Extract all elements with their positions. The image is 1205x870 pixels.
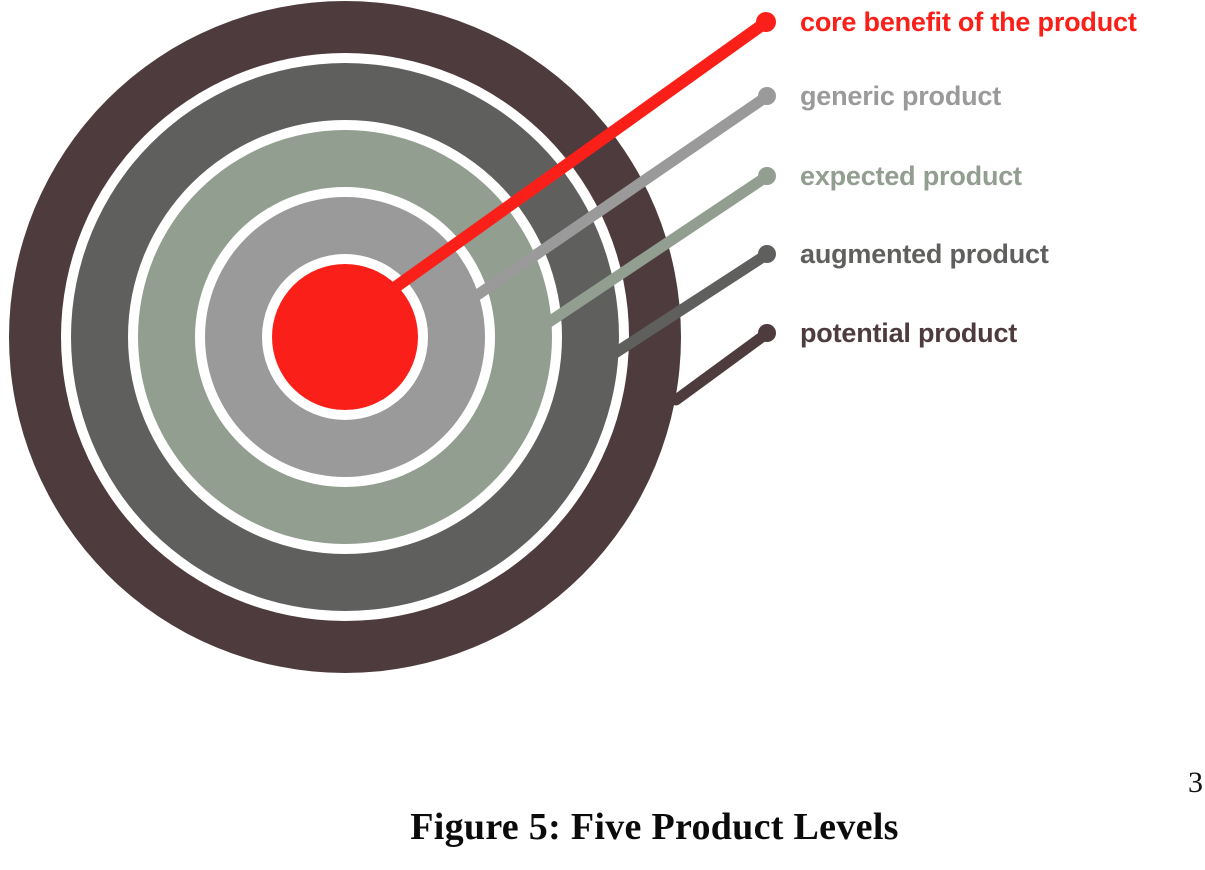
target-rings <box>9 1 681 673</box>
leader-dot-expected-product <box>758 167 776 185</box>
label-generic-product[interactable]: generic product <box>800 81 1001 111</box>
five-product-levels-diagram: core benefit of the product generic prod… <box>0 0 1205 870</box>
level-labels: core benefit of the product generic prod… <box>800 7 1137 348</box>
leader-stroke-potential-product <box>676 334 766 400</box>
label-potential-product[interactable]: potential product <box>800 318 1017 348</box>
leader-dot-augmented-product <box>758 245 776 263</box>
label-augmented-product[interactable]: augmented product <box>800 239 1049 269</box>
leader-line-potential-product <box>676 324 776 400</box>
leader-dot-generic-product <box>758 87 776 105</box>
leader-dot-potential-product <box>758 324 776 342</box>
figure-page: core benefit of the product generic prod… <box>0 0 1205 870</box>
leader-dot-core-benefit <box>756 12 776 32</box>
label-core-benefit[interactable]: core benefit of the product <box>800 7 1137 37</box>
label-expected-product[interactable]: expected product <box>800 161 1022 191</box>
